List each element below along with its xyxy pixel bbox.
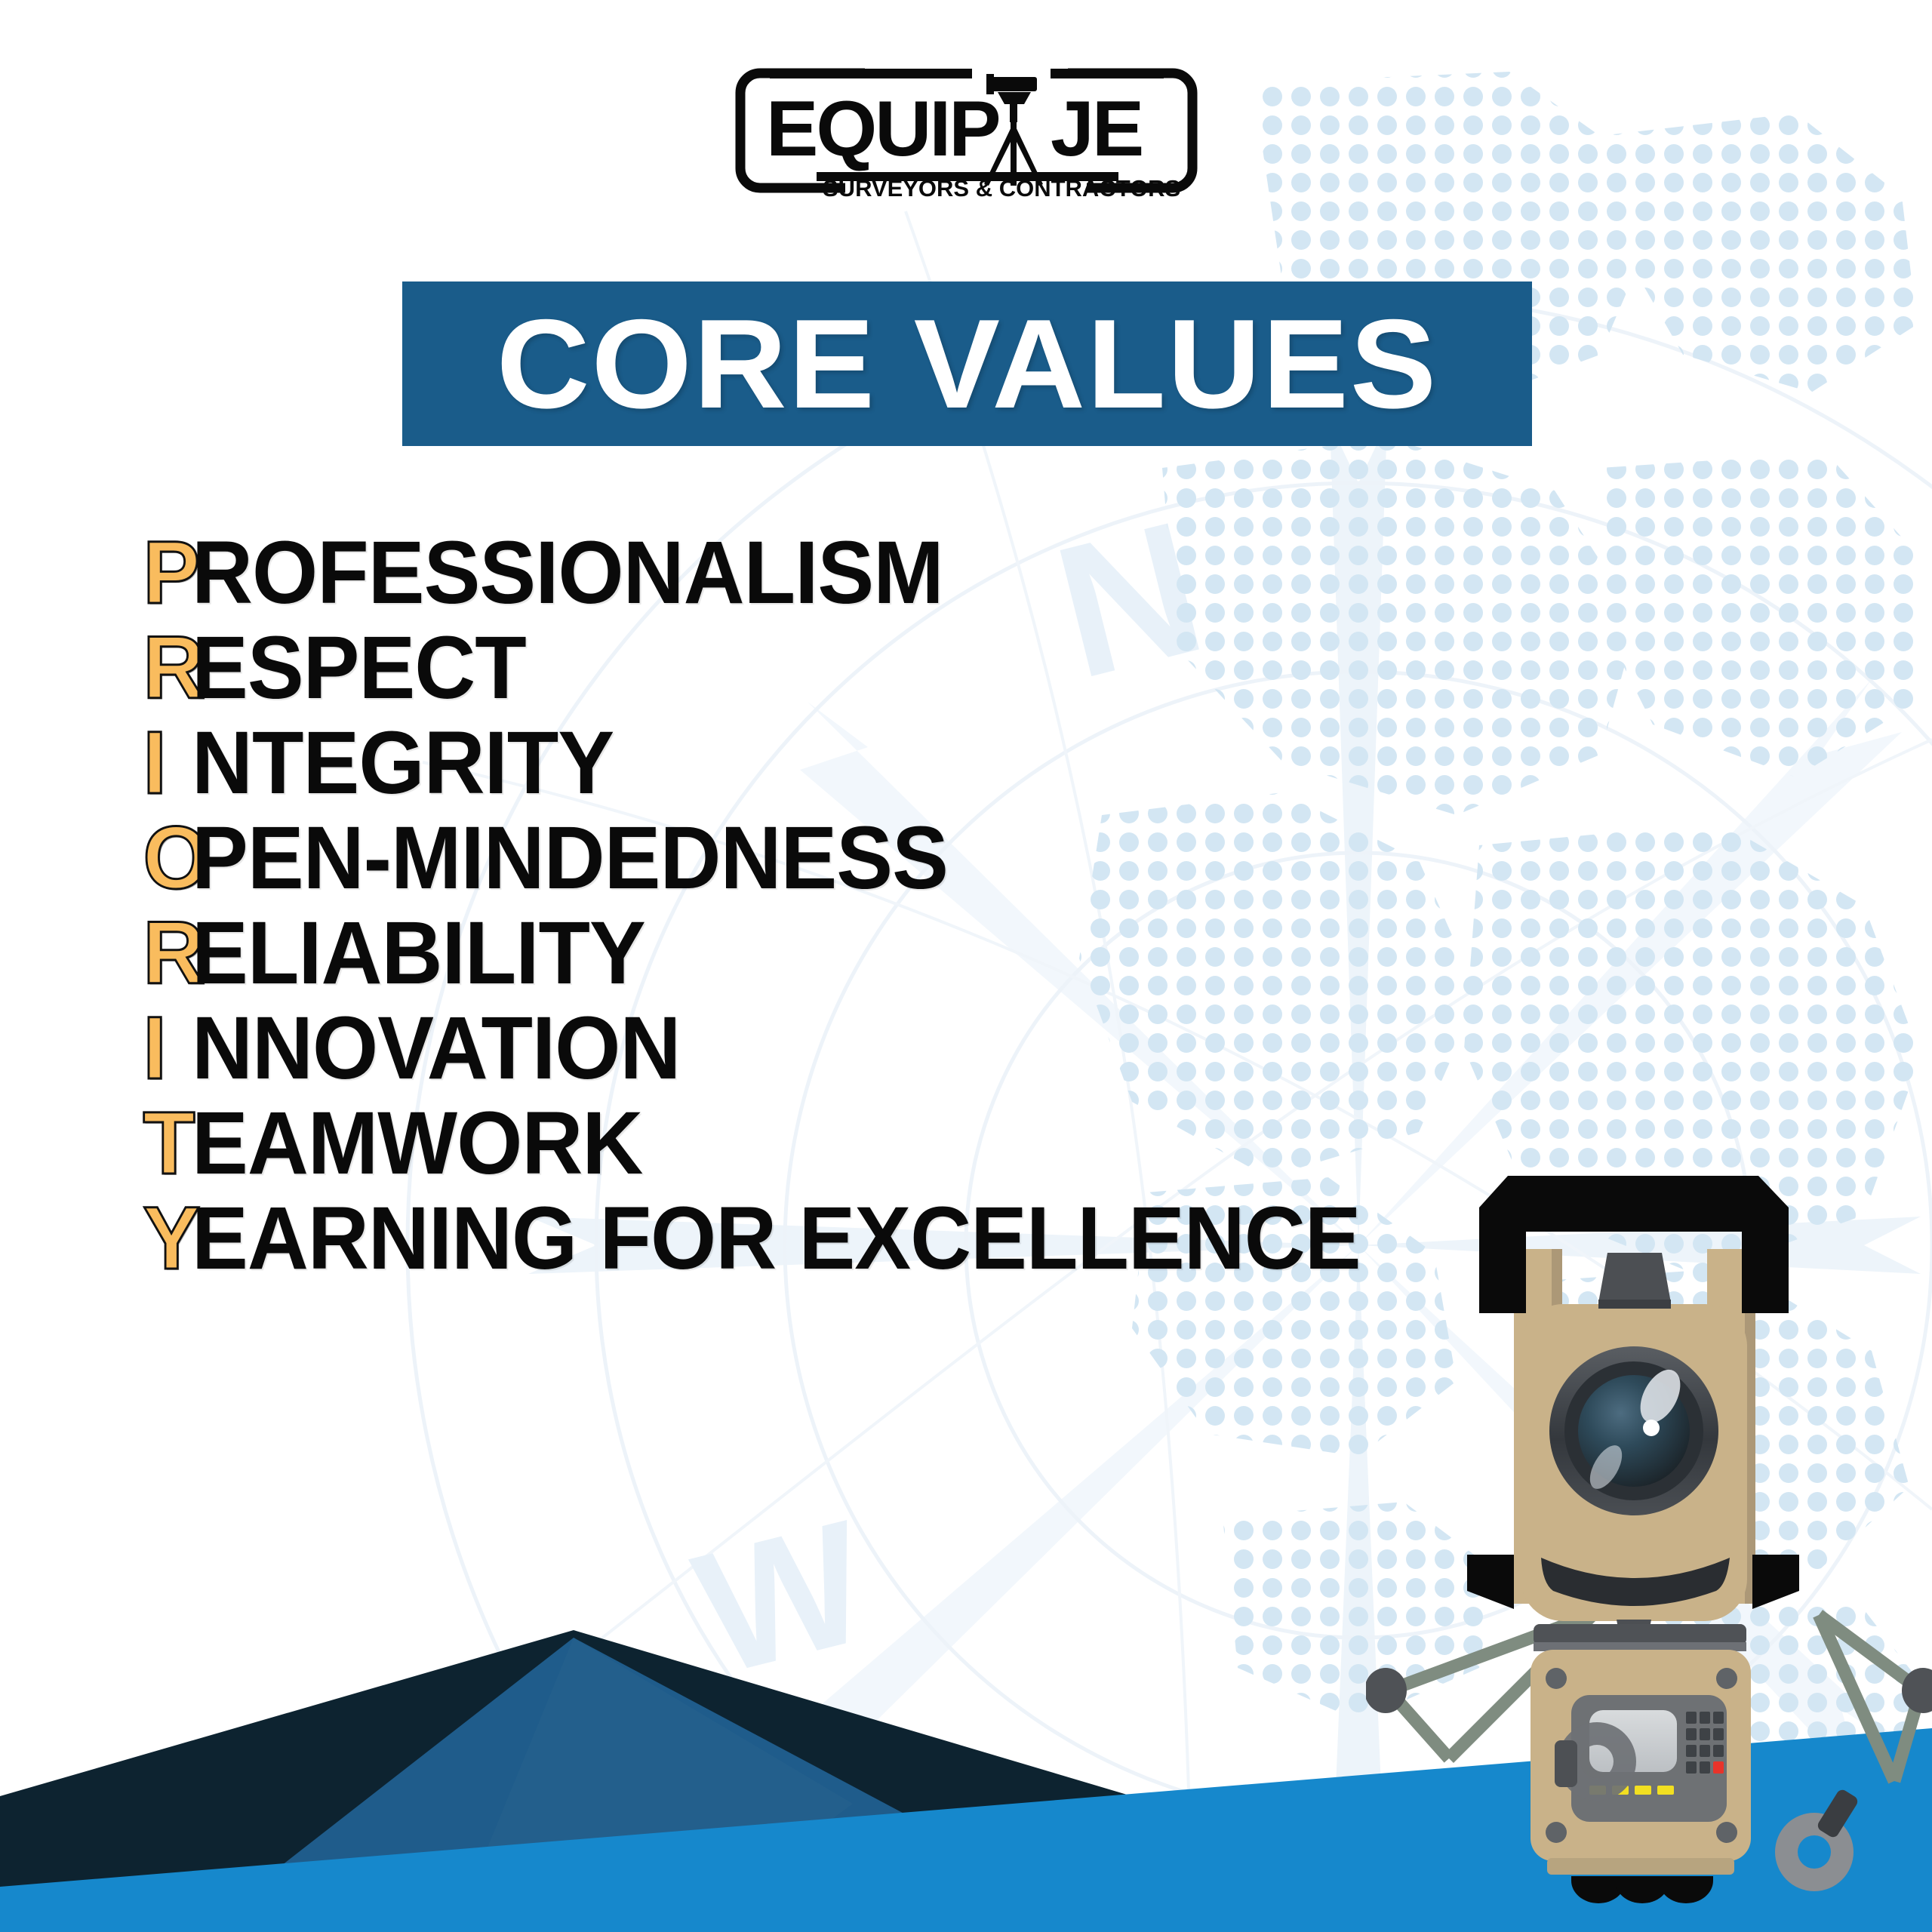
tribrach-plate bbox=[1547, 1858, 1734, 1875]
alidade-cap bbox=[1534, 1624, 1746, 1645]
company-logo: EQUIP JE SURVEYORS & CONTRACTORS bbox=[724, 59, 1207, 202]
value-label: ROFESSIONALISM bbox=[192, 528, 943, 617]
poster-canvas: N W EQUIP JE bbox=[0, 0, 1932, 1932]
value-label: PEN-MINDEDNESS bbox=[192, 814, 948, 903]
value-item-yearning-for-excellence: Y EARNING FOR EXCELLENCE bbox=[142, 1194, 1576, 1289]
value-label: NNOVATION bbox=[192, 1004, 680, 1093]
value-initial-letter: I bbox=[143, 1004, 190, 1093]
page-title: CORE VALUES bbox=[497, 300, 1438, 427]
value-initial-letter: T bbox=[143, 1099, 190, 1188]
total-station-illustration bbox=[1366, 1162, 1932, 1932]
top-sight bbox=[1598, 1253, 1671, 1303]
value-initial-letter: P bbox=[143, 528, 190, 617]
value-item-respect: R ESPECT bbox=[142, 623, 1576, 718]
value-label: ELIABILITY bbox=[192, 909, 645, 998]
value-initial-letter: R bbox=[143, 623, 190, 712]
core-values-banner: CORE VALUES bbox=[402, 281, 1532, 446]
core-values-list: P ROFESSIONALISM R ESPECT I NTEGRITY O P… bbox=[142, 528, 1576, 1289]
value-item-professionalism: P ROFESSIONALISM bbox=[142, 528, 1576, 623]
value-initial-letter: Y bbox=[143, 1194, 190, 1283]
logo-tagline: SURVEYORS & CONTRACTORS bbox=[823, 175, 1180, 202]
value-item-open-mindedness: O PEN-MINDEDNESS bbox=[142, 814, 1576, 909]
logo-text-left: EQUIP bbox=[766, 85, 999, 173]
value-label: EARNING FOR EXCELLENCE bbox=[192, 1194, 1361, 1283]
value-initial-letter: I bbox=[143, 718, 190, 808]
tangent-knob-right bbox=[1775, 1788, 1860, 1891]
leveling-screws bbox=[1571, 1876, 1713, 1903]
value-item-reliability: R ELIABILITY bbox=[142, 909, 1576, 1004]
power-key bbox=[1713, 1761, 1724, 1774]
objective-lens bbox=[1549, 1346, 1718, 1515]
value-item-innovation: I NNOVATION bbox=[142, 1004, 1576, 1099]
value-item-integrity: I NTEGRITY bbox=[142, 718, 1576, 814]
value-label: ESPECT bbox=[192, 623, 526, 712]
value-initial-letter: O bbox=[143, 814, 190, 903]
logo-text-right: JE bbox=[1051, 85, 1142, 173]
value-item-teamwork: T EAMWORK bbox=[142, 1099, 1576, 1194]
value-label: NTEGRITY bbox=[192, 718, 614, 808]
value-label: EAMWORK bbox=[192, 1099, 642, 1188]
value-initial-letter: R bbox=[143, 909, 190, 998]
